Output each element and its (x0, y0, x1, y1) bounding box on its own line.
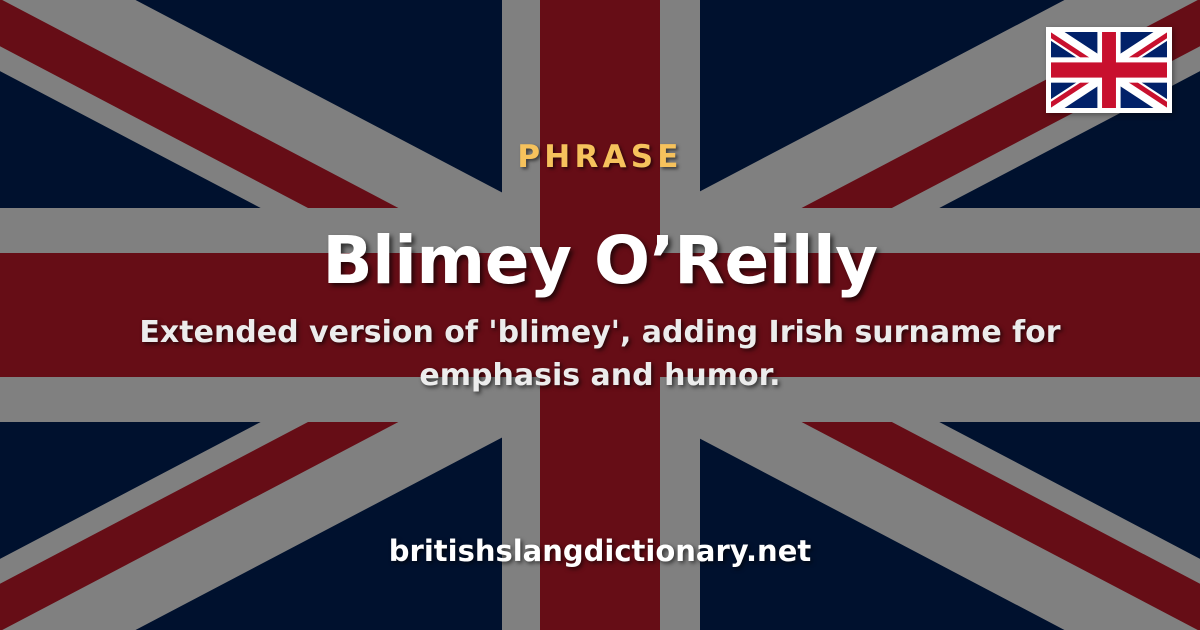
page-title: Blimey O’Reilly (0, 224, 1200, 298)
definition-text: Extended version of 'blimey', adding Iri… (130, 312, 1070, 397)
category-label: PHRASE (0, 142, 1200, 173)
social-share-card: PHRASE Blimey O’Reilly Extended version … (0, 0, 1200, 630)
card-content: PHRASE Blimey O’Reilly Extended version … (0, 0, 1200, 630)
union-jack-flag-icon (1046, 27, 1172, 113)
site-domain: britishslangdictionary.net (0, 537, 1200, 566)
